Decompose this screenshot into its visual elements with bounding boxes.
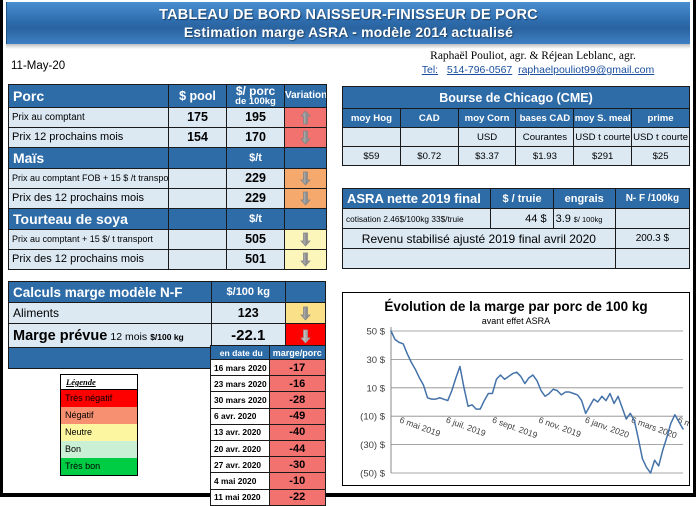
cme-title: Bourse de Chicago (CME) [343, 87, 690, 109]
table-row: 30 mars 2020-28 [211, 392, 326, 408]
history-marge-4: -40 [269, 424, 326, 440]
table-row: 11 mai 2020-22 [211, 489, 326, 505]
cme-value-moy-corn: $3.37 [458, 147, 516, 166]
soya-section-header: Tourteau de soya $/t [9, 208, 327, 229]
cme-header-row: moy Hog CAD moy Corn bases CAD moy S. me… [343, 109, 690, 128]
asra-col-nf: N- F /100kg [615, 189, 689, 209]
email-link[interactable]: raphaelpouliot99@gmail.com [518, 64, 654, 76]
contact-line: Tel: 514-796-0567 raphaelpouliot99@gmail… [383, 64, 693, 76]
history-date-5: 20 avr. 2020 [211, 440, 270, 456]
soya-unit: $/t [227, 208, 285, 229]
asra-revenu-value: 200.3 $ [615, 229, 689, 249]
asra-col-engrais: engrais [553, 189, 615, 209]
table-row: Prix au comptant FOB + 15 $ /t transport… [9, 168, 327, 188]
table-row-marge: Marge prévue 12 mois $/100 kg -22.1 [9, 324, 326, 348]
mais-title: Maïs [9, 147, 169, 168]
row-value-soya-comptant: 505 [227, 229, 285, 249]
asra-footer-empty-1 [343, 249, 616, 269]
history-date-8: 11 mai 2020 [211, 489, 270, 505]
cme-unit-5: USD t courte [632, 128, 690, 147]
legend-item-tres-bon: Très bon [61, 458, 137, 475]
report-date: 11-May-20 [11, 60, 65, 72]
row-variation-prix-comptant [285, 107, 327, 127]
soya-title: Tourteau de soya [9, 208, 169, 229]
asra-truie-value: 44 $ [491, 209, 553, 229]
row-variation-aliments [285, 303, 325, 324]
row-value-aliments: 123 [211, 303, 285, 324]
arrow-down-icon [300, 191, 311, 205]
legend-item-neutre: Neutre [61, 424, 137, 441]
table-row: Prix des 12 prochains mois 229 [9, 188, 327, 208]
table-row: Prix des 12 prochains mois 501 [9, 249, 327, 269]
porc-header-label: Porc [9, 85, 169, 108]
history-marge-6: -30 [269, 457, 326, 473]
marge-label-sub2: $/100 kg [150, 332, 184, 342]
history-marge-1: -16 [269, 376, 326, 392]
svg-text:10 $: 10 $ [367, 383, 386, 394]
tel-label: Tel: [422, 64, 438, 76]
cme-value-bases-cad: $1.93 [516, 147, 574, 166]
cme-unit-0 [343, 128, 401, 147]
cme-unit-2: USD [458, 128, 516, 147]
legend-item-tres-negatif: Très négatif [61, 390, 137, 407]
banner-title-line1: TABLEAU DE BORD NAISSEUR-FINISSEUR DE PO… [159, 7, 538, 23]
panel-separator [333, 84, 336, 488]
svg-text:30 $: 30 $ [367, 355, 386, 366]
cme-value-moy-s-meal: $291 [574, 147, 632, 166]
soya-var-spacer [285, 208, 327, 229]
banner-title-line2: Estimation marge ASRA - modèle 2014 actu… [184, 24, 513, 40]
soya-pool-empty-1 [169, 249, 227, 269]
arrow-up-icon [300, 110, 311, 124]
svg-text:50 $: 50 $ [367, 327, 386, 338]
svg-text:6 mai 2019: 6 mai 2019 [398, 415, 442, 439]
arrow-down-icon [300, 232, 311, 246]
table-header-row: Porc $ pool $/ porc de 100kg Variation [9, 85, 327, 108]
cme-col-moy-hog: moy Hog [343, 109, 401, 128]
row-value-mais-12mois: 229 [227, 188, 285, 208]
asra-table: ASRA nette 2019 final $ / truie engrais … [342, 188, 690, 269]
porc-unit-sub: de 100kg [227, 97, 284, 107]
page-banner: TABLEAU DE BORD NAISSEUR-FINISSEUR DE PO… [6, 2, 690, 44]
legend-item-bon: Bon [61, 441, 137, 458]
row-variation-soya-comptant [285, 229, 327, 249]
pool-header: $ pool [169, 85, 227, 108]
history-marge-header: marge/porc [269, 346, 326, 360]
cme-unit-1 [400, 128, 458, 147]
table-row: 23 mars 2020-16 [211, 376, 326, 392]
cme-units-row: USD Courantes USD t courte USD t courte [343, 128, 690, 147]
asra-engrais-unit: $/ 100kg [574, 215, 603, 224]
svg-text:(30) $: (30) $ [360, 440, 386, 451]
asra-engrais-cell: 3.9 $/ 100kg [553, 209, 615, 229]
table-row: 27 avr. 2020-30 [211, 457, 326, 473]
row-variation-mais-12mois [285, 188, 327, 208]
calc-var-spacer [285, 282, 325, 303]
arrow-down-icon [300, 171, 311, 185]
row-label-mais-12mois: Prix des 12 prochains mois [9, 188, 169, 208]
authors-line: Raphaël Pouliot, agr. & Réjean Leblanc, … [383, 50, 683, 62]
asra-col-truie: $ / truie [491, 189, 553, 209]
cme-title-row: Bourse de Chicago (CME) [343, 87, 690, 109]
asra-footer-row [343, 249, 690, 269]
cme-values-row: $59 $0.72 $3.37 $1.93 $291 $25 [343, 147, 690, 166]
row-value-mais-comptant: 229 [227, 168, 285, 188]
mais-var-spacer [285, 147, 327, 168]
soya-pool-empty-0 [169, 229, 227, 249]
asra-revenu-row: Revenu stabilisé ajusté 2019 final avril… [343, 229, 690, 249]
cme-col-moy-corn: moy Corn [458, 109, 516, 128]
history-marge-8: -22 [269, 489, 326, 505]
arrow-down-icon [300, 130, 311, 144]
svg-text:(10) $: (10) $ [360, 412, 386, 423]
porc-unit-header: $/ porc de 100kg [227, 85, 285, 108]
history-date-4: 13 avr. 2020 [211, 424, 270, 440]
banner-shadow [6, 44, 690, 49]
history-table: en date du marge/porc 16 mars 2020-17 23… [210, 345, 326, 506]
legend-box: Légende Très négatif Négatif Neutre Bon … [60, 374, 138, 476]
table-row: 13 avr. 2020-40 [211, 424, 326, 440]
marge-variation [285, 324, 325, 348]
row-label-mais-comptant: Prix au comptant FOB + 15 $ /t transport [9, 168, 169, 188]
asra-nf-empty [615, 209, 689, 229]
cme-table: Bourse de Chicago (CME) moy Hog CAD moy … [342, 86, 690, 166]
cme-unit-4: USD t courte [574, 128, 632, 147]
history-date-1: 23 mars 2020 [211, 376, 270, 392]
row-variation-prix-12mois [285, 127, 327, 147]
legend-title: Légende [61, 375, 137, 390]
table-row: Prix 12 prochains mois 154 170 [9, 127, 327, 147]
soya-spacer [169, 208, 227, 229]
row-label-prix-comptant: Prix au comptant [9, 107, 169, 127]
svg-text:6 janv. 2020: 6 janv. 2020 [584, 415, 631, 440]
cme-value-moy-hog: $59 [343, 147, 401, 166]
row-pool-prix-12mois: 154 [169, 127, 227, 147]
history-marge-0: -17 [269, 360, 326, 376]
svg-text:6 sept. 2019: 6 sept. 2019 [491, 415, 539, 441]
row-label-prix-12mois: Prix 12 prochains mois [9, 127, 169, 147]
history-date-0: 16 mars 2020 [211, 360, 270, 376]
history-marge-2: -28 [269, 392, 326, 408]
row-value-soya-12mois: 501 [227, 249, 285, 269]
svg-text:(50) $: (50) $ [360, 469, 386, 480]
calc-header-row: Calculs marge modèle N-F $/100 kg [9, 282, 326, 303]
arrow-down-icon [300, 329, 311, 343]
arrow-down-icon [300, 306, 311, 320]
history-date-header: en date du [211, 346, 270, 360]
history-header-row: en date du marge/porc [211, 346, 326, 360]
tel-number[interactable]: 514-796-0567 [447, 64, 512, 76]
cme-col-prime: prime [632, 109, 690, 128]
asra-revenu-label: Revenu stabilisé ajusté 2019 final avril… [343, 229, 616, 249]
table-row: 16 mars 2020-17 [211, 360, 326, 376]
marge-label-cell: Marge prévue 12 mois $/100 kg [9, 324, 212, 348]
row-porc-prix-12mois: 170 [227, 127, 285, 147]
row-pool-prix-comptant: 175 [169, 107, 227, 127]
svg-text:6 juil. 2019: 6 juil. 2019 [445, 415, 488, 439]
history-marge-7: -10 [269, 473, 326, 489]
history-marge-5: -44 [269, 440, 326, 456]
marge-label-main: Marge prévue [13, 328, 107, 344]
asra-cotisation: cotisation 2.46$/100kg 33$/truie [343, 209, 491, 229]
calc-blue-spacer-1 [9, 348, 212, 369]
marge-value: -22.1 [211, 324, 285, 348]
arrow-down-icon [300, 252, 311, 266]
cme-col-bases-cad: bases CAD [516, 109, 574, 128]
table-row: Prix au comptant + 15 $/ t transport 505 [9, 229, 327, 249]
row-label-aliments: Aliments [9, 303, 212, 324]
row-label-soya-comptant: Prix au comptant + 15 $/ t transport [9, 229, 169, 249]
table-row: 4 mai 2020-10 [211, 473, 326, 489]
asra-header-row: ASRA nette 2019 final $ / truie engrais … [343, 189, 690, 209]
mais-section-header: Maïs $/t [9, 147, 327, 168]
row-variation-soya-12mois [285, 249, 327, 269]
marge-label-sub1: 12 mois [110, 331, 147, 343]
asra-footer-empty-2 [615, 249, 689, 269]
table-row: 6 avr. 2020-49 [211, 408, 326, 424]
history-date-3: 6 avr. 2020 [211, 408, 270, 424]
mais-pool-empty-1 [169, 188, 227, 208]
history-date-6: 27 avr. 2020 [211, 457, 270, 473]
cme-value-cad: $0.72 [400, 147, 458, 166]
history-date-7: 4 mai 2020 [211, 473, 270, 489]
calc-title: Calculs marge modèle N-F [9, 282, 212, 303]
history-date-2: 30 mars 2020 [211, 392, 270, 408]
cme-col-moy-s-meal: moy S. meal [574, 109, 632, 128]
svg-text:6 nov. 2019: 6 nov. 2019 [537, 415, 582, 440]
row-label-soya-12mois: Prix des 12 prochains mois [9, 249, 169, 269]
table-row: 20 avr. 2020-44 [211, 440, 326, 456]
asra-cotisation-row: cotisation 2.46$/100kg 33$/truie 44 $ 3.… [343, 209, 690, 229]
asra-title: ASRA nette 2019 final [343, 189, 491, 209]
calc-unit: $/100 kg [211, 282, 285, 303]
table-row: Aliments 123 [9, 303, 326, 324]
prices-table: Porc $ pool $/ porc de 100kg Variation P… [8, 84, 327, 270]
mais-unit: $/t [227, 147, 285, 168]
row-porc-prix-comptant: 195 [227, 107, 285, 127]
row-variation-mais-comptant [285, 168, 327, 188]
cme-unit-3: Courantes [516, 128, 574, 147]
cme-value-prime: $25 [632, 147, 690, 166]
mais-pool-empty-0 [169, 168, 227, 188]
legend-item-negatif: Négatif [61, 407, 137, 424]
variation-header: Variation [285, 85, 327, 108]
svg-text:6 mai 2020: 6 mai 2020 [676, 415, 689, 439]
asra-engrais-value: 3.9 [556, 213, 571, 225]
cme-col-cad: CAD [400, 109, 458, 128]
dashboard-page: TABLEAU DE BORD NAISSEUR-FINISSEUR DE PO… [0, 0, 696, 497]
mais-spacer [169, 147, 227, 168]
table-row: Prix au comptant 175 195 [9, 107, 327, 127]
chart-canvas: 50 $30 $10 $(10) $(30) $(50) $6 mai 2019… [343, 293, 689, 485]
margin-evolution-chart: Évolution de la marge par porc de 100 kg… [342, 292, 690, 486]
history-marge-3: -49 [269, 408, 326, 424]
